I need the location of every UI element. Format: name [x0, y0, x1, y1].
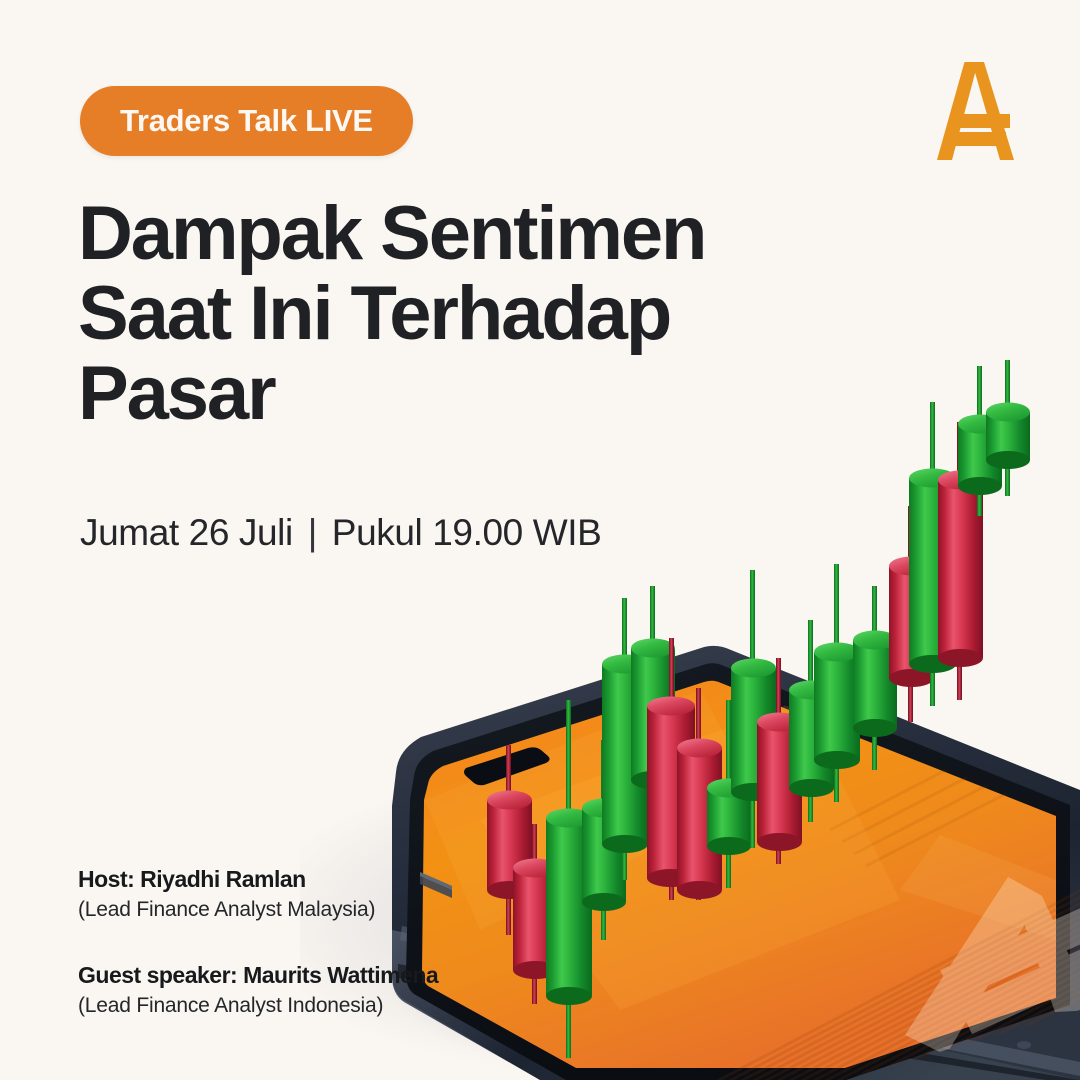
candlestick-group — [487, 360, 1030, 1058]
candle-bullish-13 — [814, 564, 860, 802]
ascendex-a-logo — [922, 58, 1022, 164]
headline-line-1: Dampak Sentimen — [78, 194, 838, 274]
page-title: Dampak Sentimen Saat Ini Terhadap Pasar — [78, 194, 838, 435]
phone-device — [392, 646, 1080, 1080]
candle-bearish-7 — [647, 638, 695, 900]
guest-name: Guest speaker: Maurits Wattimena — [78, 962, 438, 989]
candle-bullish-18 — [958, 366, 1002, 516]
guest-role: (Lead Finance Analyst Indonesia) — [78, 994, 438, 1018]
screen-watermark-logo — [905, 877, 1080, 1055]
candle-bullish-14 — [853, 586, 897, 770]
schedule-date: Jumat 26 Juli — [80, 512, 293, 553]
candle-bullish-16 — [909, 402, 956, 706]
candle-bullish-12 — [789, 620, 834, 822]
schedule-separator: | — [303, 512, 322, 553]
poster-canvas: Traders Talk LIVE Dampak Sentimen Saat I… — [0, 0, 1080, 1080]
candle-bearish-8 — [677, 688, 722, 900]
schedule-time: Pukul 19.00 WIB — [332, 512, 602, 553]
host-role: (Lead Finance Analyst Malaysia) — [78, 898, 438, 922]
live-badge-label: Traders Talk LIVE — [120, 103, 373, 139]
candle-bearish-11 — [757, 658, 802, 864]
candle-bullish-2 — [546, 700, 592, 1058]
candle-bullish-6 — [631, 586, 675, 844]
credits-block: Host: Riyadhi Ramlan (Lead Finance Analy… — [78, 866, 438, 1018]
live-badge[interactable]: Traders Talk LIVE — [80, 86, 413, 156]
headline-line-2: Saat Ini Terhadap — [78, 274, 838, 354]
candle-bullish-5 — [602, 598, 648, 880]
candle-bullish-4 — [582, 740, 626, 940]
candle-bearish-1 — [487, 745, 532, 935]
candle-bearish-17 — [938, 422, 983, 700]
headline-line-3: Pasar — [78, 354, 838, 434]
candle-bullish-19 — [986, 360, 1030, 496]
host-name: Host: Riyadhi Ramlan — [78, 866, 438, 893]
credits-spacer — [78, 922, 438, 962]
schedule-line: Jumat 26 Juli | Pukul 19.00 WIB — [80, 512, 601, 554]
candle-bearish-15 — [889, 506, 934, 722]
candle-bullish-9 — [707, 700, 751, 888]
candle-bearish-3 — [513, 824, 558, 1004]
candle-bullish-10 — [731, 570, 776, 848]
